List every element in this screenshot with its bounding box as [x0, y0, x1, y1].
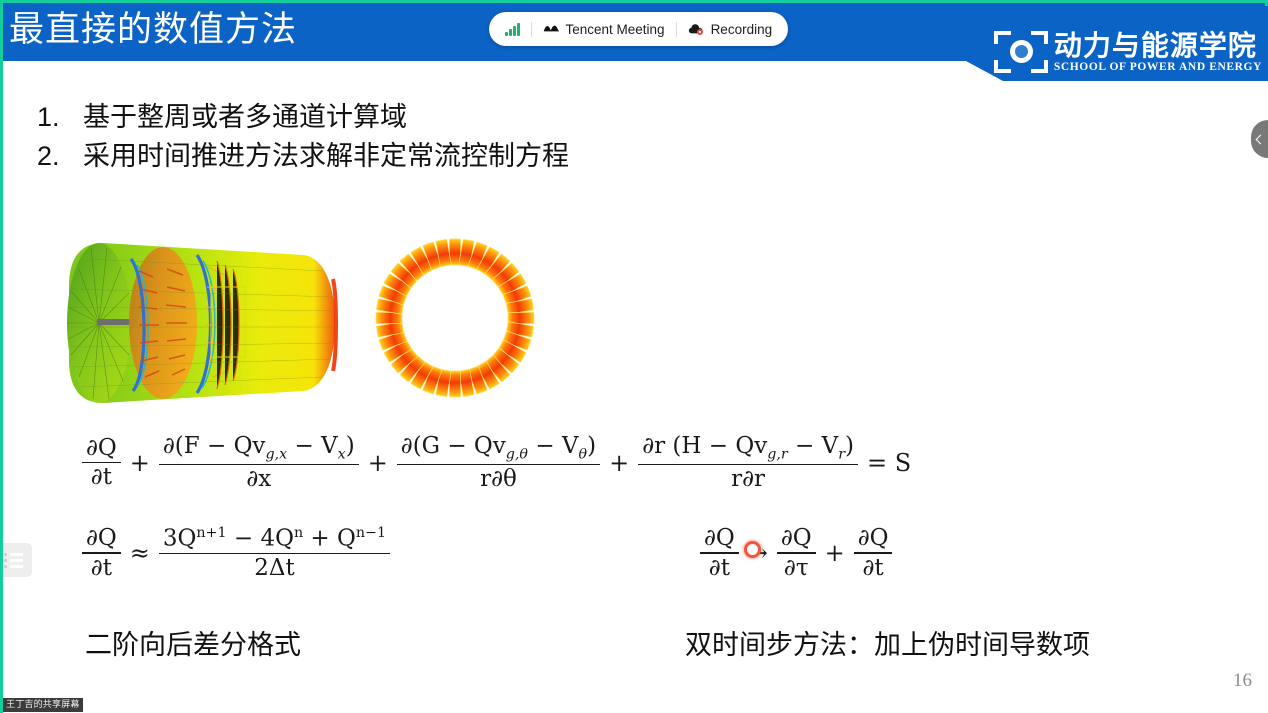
page-number: 16: [1233, 670, 1252, 692]
equation-governing: ∂Q ∂t + ∂(F − Qvg,x − Vx) ∂x + ∂(G − Qvg…: [79, 433, 917, 492]
equation-rhs: = S: [861, 449, 917, 477]
frac-numerator: ∂r (H − Qvg,r − Vr): [638, 433, 858, 464]
frac-numerator: ∂Q: [700, 525, 739, 552]
term-dQdtau-pseudo: ∂Q ∂τ: [777, 525, 816, 581]
term-bdf2-rhs: 3Qn+1 − 4Qn + Qn−1 2Δt: [159, 525, 390, 581]
plus-sign-4: +: [819, 539, 851, 567]
frac-denominator: ∂x: [242, 465, 275, 492]
slide-title: 最直接的数值方法: [9, 5, 297, 55]
frac-denominator: ∂t: [87, 554, 116, 581]
frac-denominator: ∂t: [859, 554, 888, 581]
equation-bdf2: ∂Q ∂t ≈ 3Qn+1 − 4Qn + Qn−1 2Δt: [79, 525, 393, 581]
frac-numerator: ∂(F − Qvg,x − Vx): [159, 433, 359, 464]
meeting-app-item[interactable]: Tencent Meeting: [543, 22, 665, 37]
list-item-number: 1.: [37, 98, 83, 136]
divider: [676, 22, 677, 37]
caption-left: 二阶向后差分格式: [85, 623, 301, 662]
recording-label: Recording: [711, 22, 773, 37]
plus-sign-2: +: [362, 449, 394, 477]
frac-denominator: ∂t: [705, 554, 734, 581]
chevron-left-icon: [1256, 134, 1266, 144]
list-item: 1. 基于整周或者多通道计算域: [37, 98, 937, 137]
frac-numerator: ∂Q: [854, 525, 893, 552]
term-dQdt-physical-2: ∂Q ∂t: [854, 525, 893, 581]
frac-denominator: r∂θ: [476, 465, 521, 492]
term-axial-flux: ∂(F − Qvg,x − Vx) ∂x: [159, 433, 359, 492]
frac-denominator: r∂r: [727, 465, 769, 492]
school-logo-mark-icon: [994, 31, 1048, 73]
tencent-meeting-floating-bar[interactable]: Tencent Meeting Recording: [489, 12, 788, 46]
bullet-list: 1. 基于整周或者多通道计算域 2. 采用时间推进方法求解非定常流控制方程: [37, 98, 937, 176]
frac-numerator: ∂Q: [82, 525, 121, 552]
list-item-label: 采用时间推进方法求解非定常流控制方程: [83, 138, 569, 176]
recording-item[interactable]: Recording: [688, 22, 773, 37]
cfd-annulus-3d-figure: [11, 231, 371, 431]
frac-denominator: ∂t: [87, 463, 116, 490]
frac-numerator: ∂Q: [777, 525, 816, 552]
school-logo-cn: 动力与能源学院: [1054, 32, 1262, 60]
left-panel-toggle[interactable]: [0, 543, 32, 577]
meeting-app-label: Tencent Meeting: [566, 22, 665, 37]
plus-sign-3: +: [603, 449, 635, 477]
term-tangential-flux: ∂(G − Qvg,θ − Vθ) r∂θ: [397, 433, 600, 492]
screen-share-owner-label: 王丁吉的共享屏幕: [3, 698, 83, 712]
approx-sign: ≈: [124, 539, 156, 567]
signal-bars-icon: [505, 23, 520, 36]
frac-denominator: 2Δt: [250, 554, 299, 581]
plus-sign-1: +: [124, 449, 156, 477]
recording-cloud-icon: [688, 23, 705, 36]
frac-denominator: ∂τ: [780, 554, 813, 581]
list-item-label: 基于整周或者多通道计算域: [83, 99, 407, 137]
list-icon: [10, 553, 23, 568]
caption-right: 双时间步方法：加上伪时间导数项: [685, 623, 1090, 662]
shared-slide-canvas: 最直接的数值方法 动力与能源学院 SCHOOL OF POWER AND ENE…: [3, 3, 1268, 710]
equation-dual-time: ∂Q ∂t → ∂Q ∂τ + ∂Q ∂t: [697, 525, 895, 581]
list-item-number: 2.: [37, 137, 83, 175]
term-dQdt-physical: ∂Q ∂t: [700, 525, 739, 581]
tencent-meeting-icon: [543, 23, 560, 35]
school-logo: 动力与能源学院 SCHOOL OF POWER AND ENERGY: [994, 31, 1262, 73]
term-dQdt: ∂Q ∂t: [82, 435, 121, 491]
frac-numerator: ∂(G − Qvg,θ − Vθ): [397, 433, 600, 464]
school-logo-en: SCHOOL OF POWER AND ENERGY: [1054, 62, 1262, 74]
frac-numerator: ∂Q: [82, 435, 121, 462]
term-radial-flux: ∂r (H − Qvg,r − Vr) r∂r: [638, 433, 858, 492]
divider: [531, 22, 532, 37]
laser-pointer-dot: [744, 541, 761, 558]
cfd-blade-ring-figure: [369, 236, 541, 401]
list-item: 2. 采用时间推进方法求解非定常流控制方程: [37, 137, 937, 176]
term-dQdt: ∂Q ∂t: [82, 525, 121, 581]
frac-numerator: 3Qn+1 − 4Qn + Qn−1: [159, 525, 390, 553]
